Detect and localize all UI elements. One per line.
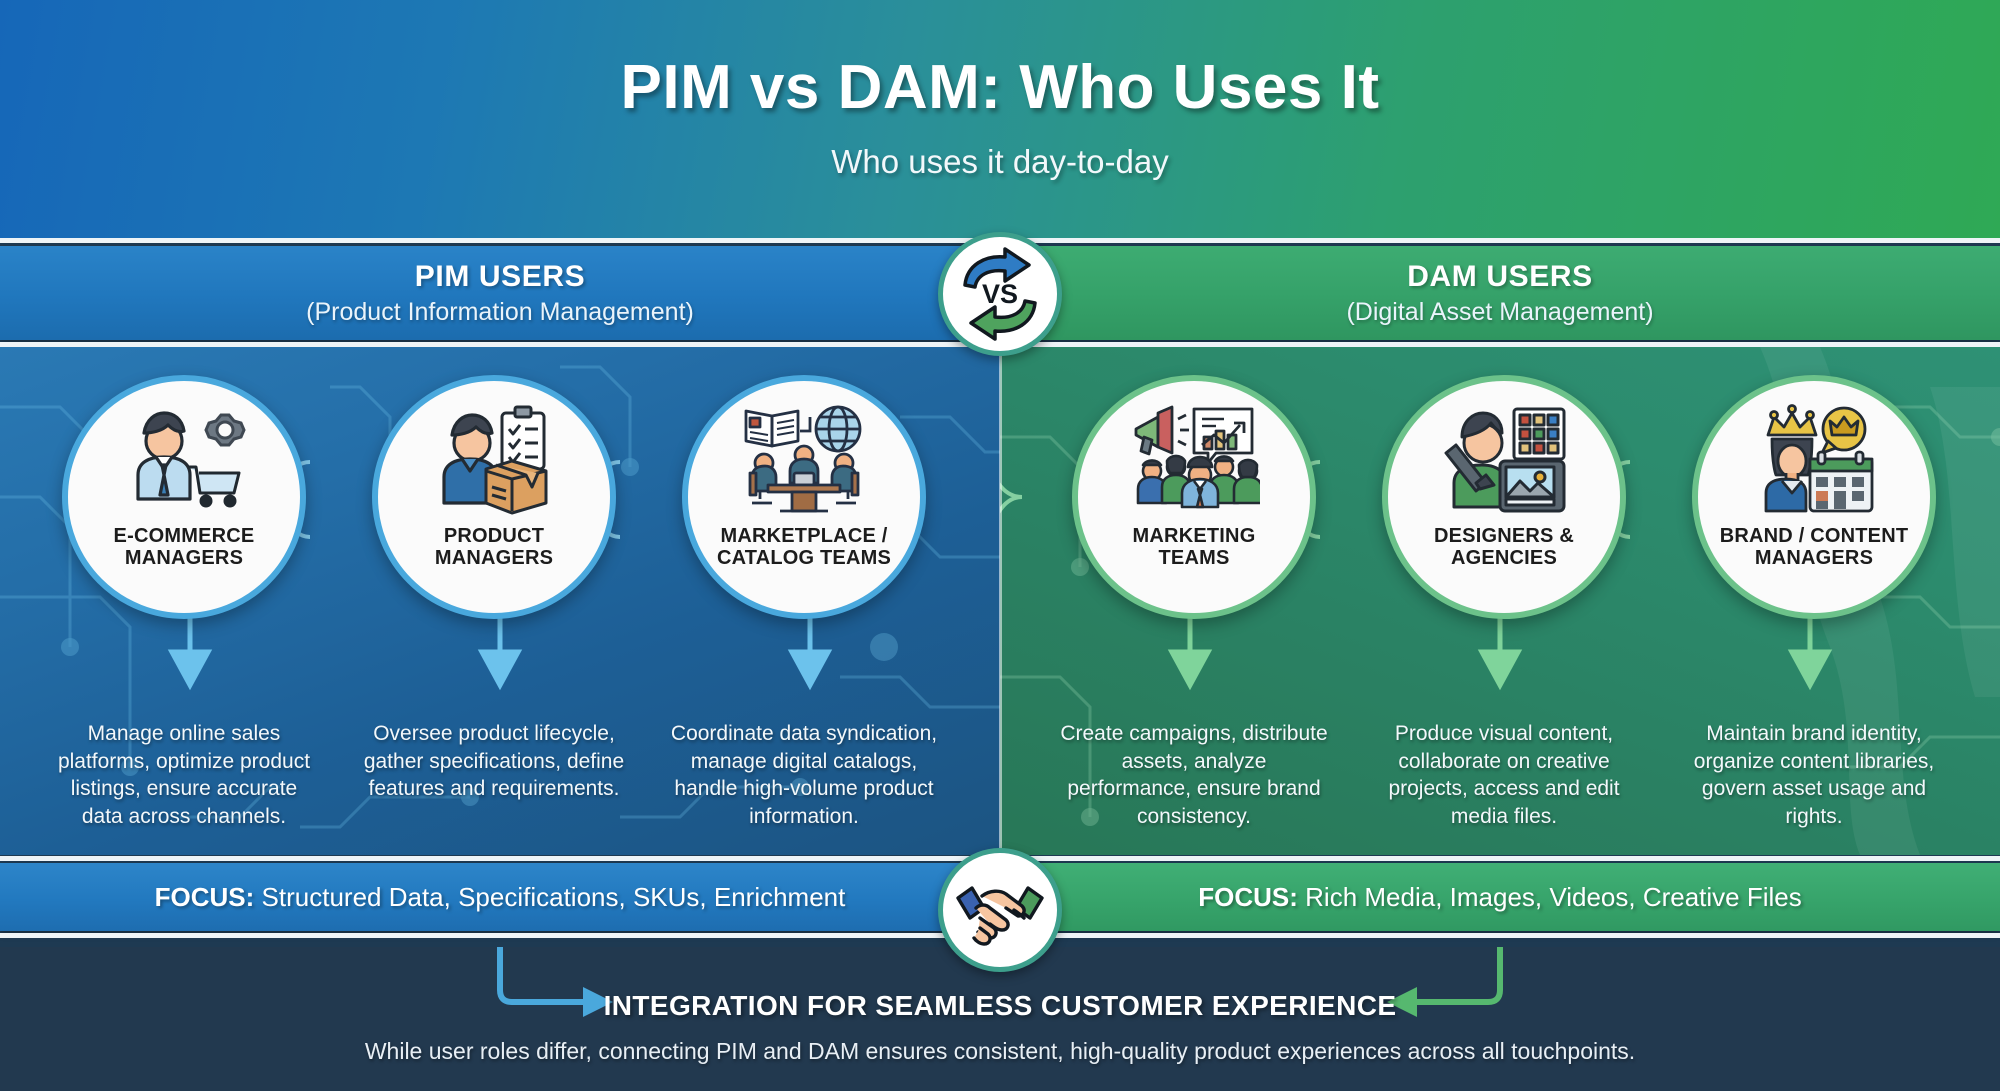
role-label-line2: MANAGERS <box>1755 547 1873 569</box>
dam-header-title: DAM USERS <box>1407 260 1592 294</box>
role-description-brand-content-managers: Maintain brand identity, organize conten… <box>1679 720 1949 831</box>
page-title: PIM vs DAM: Who Uses It <box>620 57 1379 119</box>
panel-divider <box>999 347 1002 855</box>
role-label-line2: MANAGERS <box>435 547 553 569</box>
hero-banner: PIM vs DAM: Who Uses It Who uses it day-… <box>0 0 2000 238</box>
megaphone-chart-people-icon <box>1128 399 1260 519</box>
integration-title: INTEGRATION FOR SEAMLESS CUSTOMER EXPERI… <box>0 990 2000 1022</box>
handshake-icon <box>952 862 1048 958</box>
pim-focus-value: Structured Data, Specifications, SKUs, E… <box>262 882 846 912</box>
role-description-ecommerce-managers: Manage online sales platforms, optimize … <box>49 720 319 831</box>
role-label-line2: TEAMS <box>1159 547 1230 569</box>
role-circle-designers-agencies[interactable]: DESIGNERS & AGENCIES <box>1382 375 1626 619</box>
dam-focus-value: Rich Media, Images, Videos, Creative Fil… <box>1305 882 1802 912</box>
role-description-marketplace-catalog-teams: Coordinate data syndication, manage digi… <box>669 720 939 831</box>
role-label: E-COMMERCE MANAGERS <box>114 525 255 570</box>
role-circle-marketplace-catalog-teams[interactable]: MARKETPLACE / CATALOG TEAMS <box>682 375 926 619</box>
role-label: MARKETING TEAMS <box>1133 525 1256 570</box>
pim-header-subtitle: (Product Information Management) <box>306 298 694 327</box>
pim-header-title: PIM USERS <box>415 260 585 294</box>
role-circle-product-managers[interactable]: PRODUCT MANAGERS <box>372 375 616 619</box>
role-circle-marketing-teams[interactable]: MARKETING TEAMS <box>1072 375 1316 619</box>
role-label-line1: E-COMMERCE <box>114 525 255 547</box>
pim-focus-text: FOCUS: Structured Data, Specifications, … <box>155 882 846 913</box>
dam-header-bar: DAM USERS (Digital Asset Management) <box>1000 246 2000 340</box>
role-label-line2: CATALOG TEAMS <box>717 547 891 569</box>
role-label-line1: PRODUCT <box>444 525 544 547</box>
vs-badge: VS <box>938 232 1062 356</box>
handshake-badge <box>938 848 1062 972</box>
role-label-line1: BRAND / CONTENT <box>1720 525 1909 547</box>
role-description-product-managers: Oversee product lifecycle, gather specif… <box>359 720 629 803</box>
role-label-line2: AGENCIES <box>1451 547 1557 569</box>
infographic-canvas: PIM vs DAM: Who Uses It Who uses it day-… <box>0 0 2000 1091</box>
role-label-line1: MARKETING <box>1133 525 1256 547</box>
pim-focus-label: FOCUS: <box>155 882 255 912</box>
role-description-marketing-teams: Create campaigns, distribute assets, ana… <box>1059 720 1329 831</box>
designer-stylus-tablet-icon <box>1438 399 1570 519</box>
dam-focus-bar: FOCUS: Rich Media, Images, Videos, Creat… <box>1000 863 2000 931</box>
role-label-line1: DESIGNERS & <box>1434 525 1574 547</box>
person-with-gear-and-cart-icon <box>120 399 248 519</box>
footer-note: While user roles differ, connecting PIM … <box>0 1038 2000 1065</box>
crown-woman-calendar-icon <box>1748 399 1880 519</box>
role-label-line2: MANAGERS <box>125 547 243 569</box>
role-label-line1: MARKETPLACE / <box>720 525 887 547</box>
dam-header-subtitle: (Digital Asset Management) <box>1346 298 1653 327</box>
dam-focus-text: FOCUS: Rich Media, Images, Videos, Creat… <box>1198 882 1802 913</box>
dam-focus-label: FOCUS: <box>1198 882 1298 912</box>
role-circle-ecommerce-managers[interactable]: E-COMMERCE MANAGERS <box>62 375 306 619</box>
person-with-clipboard-and-box-icon <box>430 399 558 519</box>
role-description-designers-agencies: Produce visual content, collaborate on c… <box>1369 720 1639 831</box>
role-label: DESIGNERS & AGENCIES <box>1434 525 1574 570</box>
pim-header-bar: PIM USERS (Product Information Managemen… <box>0 246 1000 340</box>
vs-label: VS <box>982 279 1018 309</box>
circular-arrows-icon: VS <box>951 245 1049 343</box>
pim-focus-bar: FOCUS: Structured Data, Specifications, … <box>0 863 1000 931</box>
page-subtitle: Who uses it day-to-day <box>831 143 1168 181</box>
role-circle-brand-content-managers[interactable]: BRAND / CONTENT MANAGERS <box>1692 375 1936 619</box>
role-label: MARKETPLACE / CATALOG TEAMS <box>717 525 891 570</box>
role-label: PRODUCT MANAGERS <box>435 525 553 570</box>
role-label: BRAND / CONTENT MANAGERS <box>1720 525 1909 570</box>
team-table-catalog-globe-icon <box>738 399 870 519</box>
